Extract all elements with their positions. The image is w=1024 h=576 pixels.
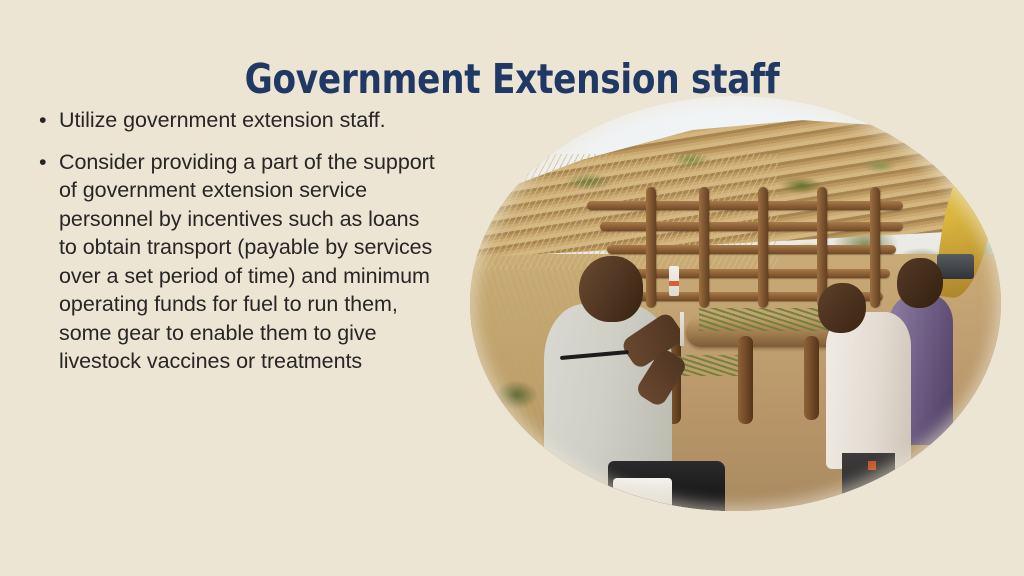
bullet-icon: • <box>39 148 46 177</box>
orange-tag <box>868 461 876 470</box>
vial-cap <box>669 281 679 286</box>
assistant-torso <box>826 312 911 470</box>
vaccinator-head <box>579 256 643 322</box>
third-person-head <box>897 258 942 308</box>
assistant-head <box>818 283 866 333</box>
list-item-text: Consider providing a part of the support… <box>59 150 435 374</box>
photo-scene <box>470 96 1001 511</box>
list-item: • Consider providing a part of the suppo… <box>32 148 436 376</box>
bullet-icon: • <box>39 106 46 135</box>
list-item: • Utilize government extension staff. <box>32 106 436 135</box>
distant-vehicle <box>937 254 974 279</box>
list-item-text: Utilize government extension staff. <box>59 108 386 132</box>
syringe <box>680 312 684 346</box>
bullet-list: • Utilize government extension staff. • … <box>32 106 436 376</box>
equipment-bag-white-panel <box>613 478 671 511</box>
presentation-slide: Government Extension staff • Utilize gov… <box>0 0 1024 576</box>
oval-photo-field-vaccination <box>470 96 1001 511</box>
